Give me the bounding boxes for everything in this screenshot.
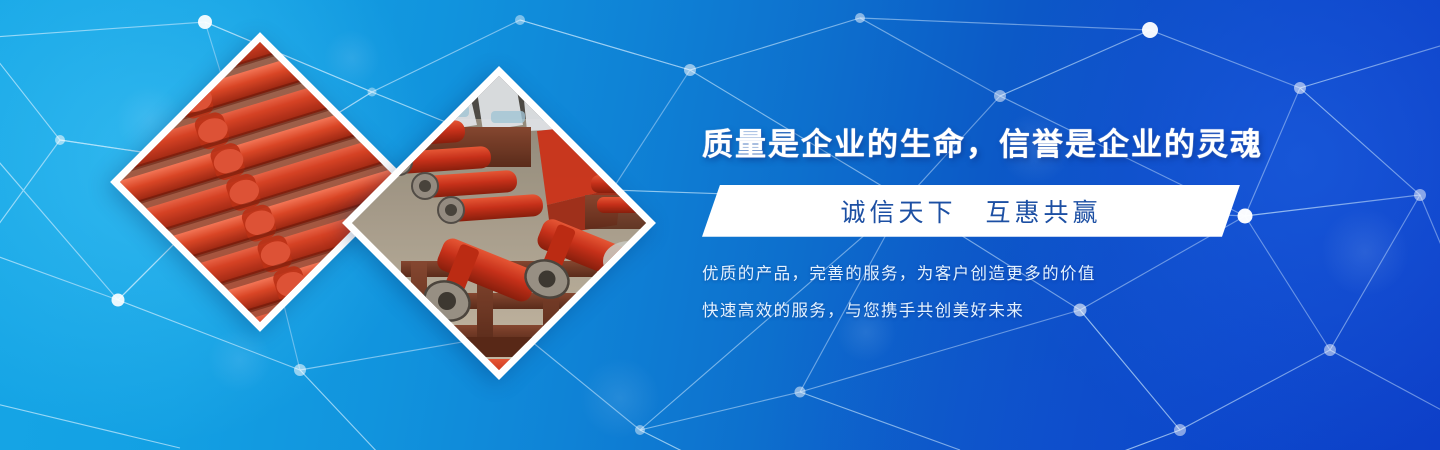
banner-headline: 质量是企业的生命，信誉是企业的灵魂 xyxy=(702,126,1262,165)
banner-copy-block: 质量是企业的生命，信誉是企业的灵魂 诚信天下 互惠共赢 优质的产品，完善的服务，… xyxy=(702,126,1262,321)
promo-banner: 质量是企业的生命，信誉是企业的灵魂 诚信天下 互惠共赢 优质的产品，完善的服务，… xyxy=(0,0,1440,450)
banner-subline-2: 快速高效的服务，与您携手共创美好未来 xyxy=(702,297,1262,321)
slogan-ribbon: 诚信天下 互惠共赢 xyxy=(702,185,1240,237)
banner-subline-1: 优质的产品，完善的服务，为客户创造更多的价值 xyxy=(702,260,1262,284)
slogan-ribbon-text: 诚信天下 互惠共赢 xyxy=(840,193,1101,229)
